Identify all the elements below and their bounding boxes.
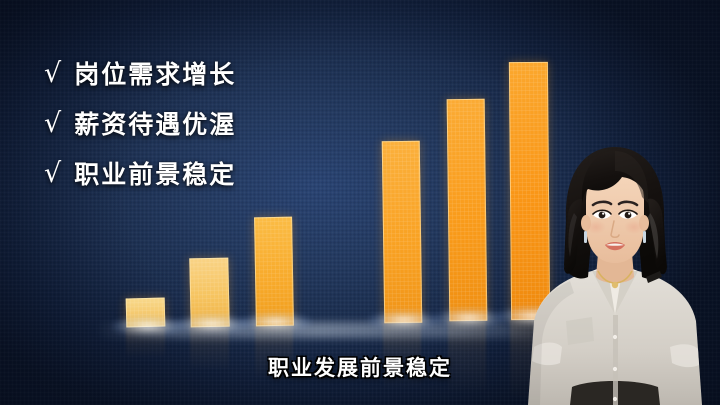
bar-1 [126,298,166,328]
check-radical-icon: √ [44,60,61,87]
bullet-label-2: 薪资待遇优渥 [74,105,236,141]
bar-outline [189,258,229,328]
bullet-item-3: √ 职业前景稳定 [44,148,236,198]
bar-4 [382,141,423,324]
bullet-item-1: √ 岗位需求增长 [44,48,236,98]
necklace-pendant [612,282,618,288]
bullet-label-3: 职业前景稳定 [74,155,236,191]
bar-outline [382,141,423,324]
bar-5 [447,99,488,321]
video-frame: √ 岗位需求增长 √ 薪资待遇优渥 √ 职业前景稳定 职业发展前景稳定 [0,0,720,405]
bar-2 [189,258,229,328]
presenter-avatar [510,125,720,405]
bar-outline [447,99,488,321]
earring [643,231,646,243]
floor-glow [95,322,565,338]
bar-outline [254,217,294,327]
bullet-item-2: √ 薪资待遇优渥 [44,98,236,148]
bar-outline [126,298,166,328]
bar-3 [254,217,294,327]
earring [584,231,587,243]
presenter-illustration [510,125,720,405]
bullet-label-1: 岗位需求增长 [74,55,236,91]
check-radical-icon: √ [44,110,61,137]
check-radical-icon: √ [44,160,61,187]
feature-bullet-list: √ 岗位需求增长 √ 薪资待遇优渥 √ 职业前景稳定 [44,48,236,198]
